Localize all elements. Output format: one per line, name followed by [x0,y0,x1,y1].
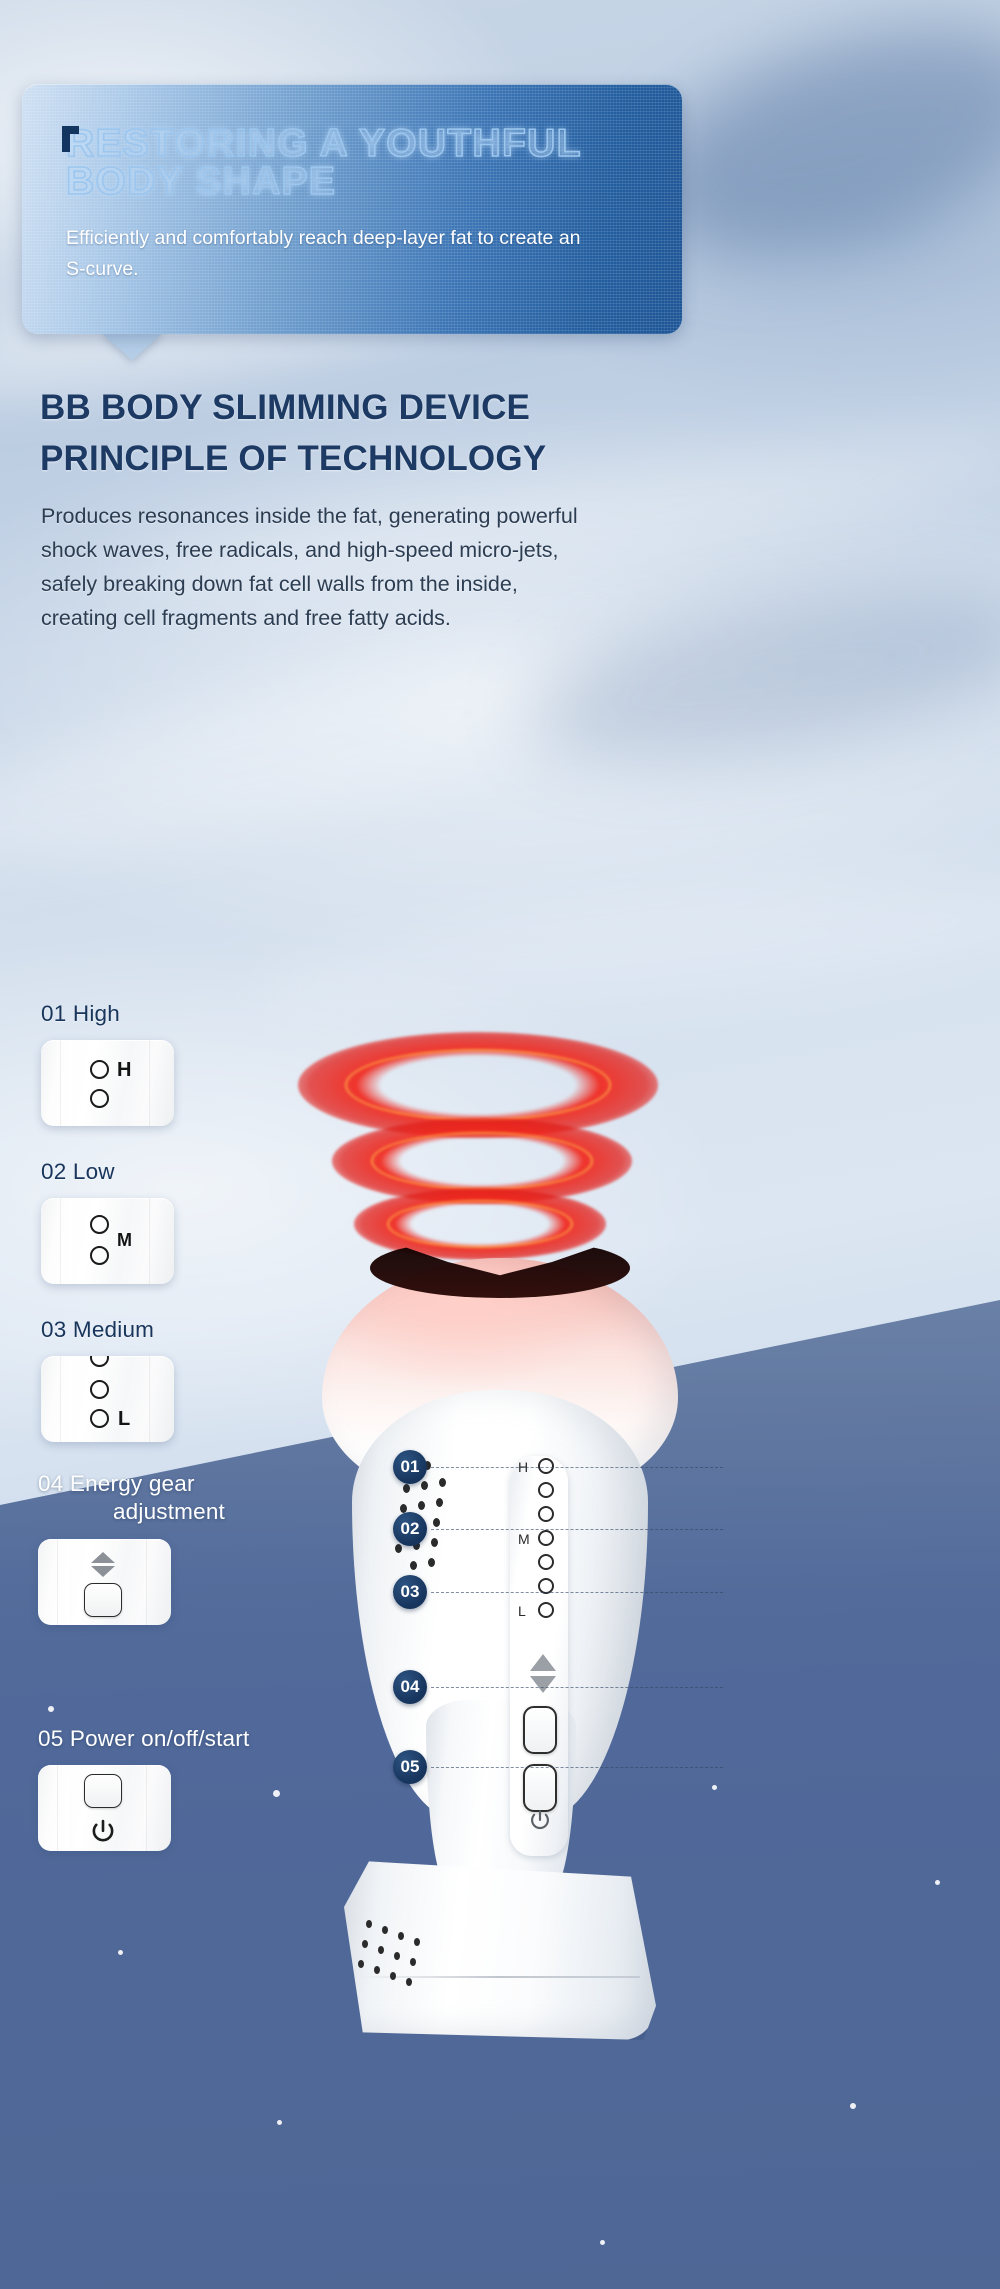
description-line-3: safely breaking down fat cell walls from… [41,568,666,602]
description-line-2: shock waves, free radicals, and high-spe… [41,534,666,568]
callout-01: 01 [393,1450,733,1484]
page-title: BB BODY SLIMMING DEVICE PRINCIPLE OF TEC… [40,383,680,485]
sparkle-dot [118,1950,123,1955]
feature-chip-04-energy-gear[interactable] [38,1539,171,1625]
led-ring-bottom [90,1409,109,1428]
corner-quote-mark-icon [62,126,79,152]
description-line-4: creating cell fragments and free fatty a… [41,602,666,636]
feature-label-02: 02 Low [41,1158,174,1186]
description-paragraph: Produces resonances inside the fat, gene… [41,500,666,636]
led-ring-bottom [90,1246,109,1265]
feature-item-02-low: 02 Low M [41,1158,174,1284]
callout-badge-01: 01 [393,1450,427,1484]
callout-05: 05 [393,1750,733,1784]
feature-label-05: 05 Power on/off/start [38,1725,338,1753]
feature-chip-02-low[interactable]: M [41,1198,174,1284]
sparkle-dot [935,1880,940,1885]
banner-title-line-1: RESTORING A YOUTHFUL [66,125,648,163]
sparkle-dot [850,2103,856,2109]
callout-leader-line-02 [431,1529,723,1530]
feature-label-01: 01 High [41,1000,174,1028]
wave-ring-inner [354,1188,606,1260]
panel-power-symbol-icon [527,1808,553,1834]
hero-banner: RESTORING A YOUTHFUL BODY SHAPE Efficien… [22,84,682,334]
callout-badge-03: 03 [393,1575,427,1609]
sparkle-dot [277,2120,282,2125]
callout-02: 02 [393,1512,733,1546]
chip-glyph-l: L [118,1409,130,1429]
callout-badge-05: 05 [393,1750,427,1784]
feature-label-04-line-1: 04 Energy gear [38,1470,243,1498]
feature-label-03: 03 Medium [41,1316,174,1344]
callout-leader-line-05 [431,1767,723,1768]
feature-chip-01-high[interactable]: H [41,1040,174,1126]
feature-label-03-text: 03 Medium [41,1316,174,1344]
led-indicator-2 [538,1482,554,1498]
led-ring-top [90,1215,109,1234]
banner-subtitle-line-1: Efficiently and comfortably reach deep-l… [66,227,494,249]
feature-chip-03-medium[interactable]: L [41,1356,174,1442]
led-ring-bottom [90,1089,109,1108]
feature-label-01-text: 01 High [41,1000,174,1028]
banner-subtitle: Efficiently and comfortably reach deep-l… [66,223,586,286]
page-title-line-2: PRINCIPLE OF TECHNOLOGY [40,434,680,485]
callout-badge-04: 04 [393,1670,427,1704]
device-charging-base [344,1850,656,2040]
feature-item-04-energy-gear: 04 Energy gear adjustment [38,1470,243,1625]
led-indicator-5 [538,1554,554,1570]
sparkle-dot [48,1706,54,1712]
up-down-arrows-icon [88,1552,118,1580]
feature-item-05-power: 05 Power on/off/start [38,1725,338,1851]
callout-03: 03 [393,1575,733,1609]
panel-gear-button[interactable] [523,1706,557,1754]
callout-badge-02: 02 [393,1512,427,1546]
sparkle-dot [600,2240,605,2245]
banner-title-line-2: BODY SHAPE [66,163,648,201]
feature-label-02-text: 02 Low [41,1158,174,1186]
feature-label-04-line-2: adjustment [38,1498,243,1526]
callout-leader-line-03 [431,1592,723,1593]
callout-04: 04 [393,1670,733,1704]
feature-chip-05-power[interactable] [38,1765,171,1851]
banner-title: RESTORING A YOUTHFUL BODY SHAPE [66,125,648,201]
chip-glyph-h: H [117,1060,131,1080]
callout-leader-line-04 [431,1687,723,1688]
description-line-1: Produces resonances inside the fat, gene… [41,500,666,534]
device-base-seam [360,1976,640,1978]
sparkle-dot [712,1785,717,1790]
led-ring-middle [90,1380,109,1399]
callout-leader-line-01 [431,1467,723,1468]
banner-pointer-tail [100,332,164,360]
feature-item-03-medium: 03 Medium L [41,1316,174,1442]
power-symbol-icon [88,1817,118,1847]
chip-glyph-m: M [117,1231,132,1249]
gear-button[interactable] [84,1583,122,1617]
led-ring-top [90,1060,109,1079]
feature-label-05-text: 05 Power on/off/start [38,1725,338,1753]
feature-label-04: 04 Energy gear adjustment [38,1470,243,1527]
device-illustration: H M L [300,1060,700,2070]
feature-item-01-high: 01 High H [41,1000,174,1126]
power-button[interactable] [84,1774,122,1808]
page-title-line-1: BB BODY SLIMMING DEVICE [40,383,680,434]
led-ring-top [90,1356,109,1367]
